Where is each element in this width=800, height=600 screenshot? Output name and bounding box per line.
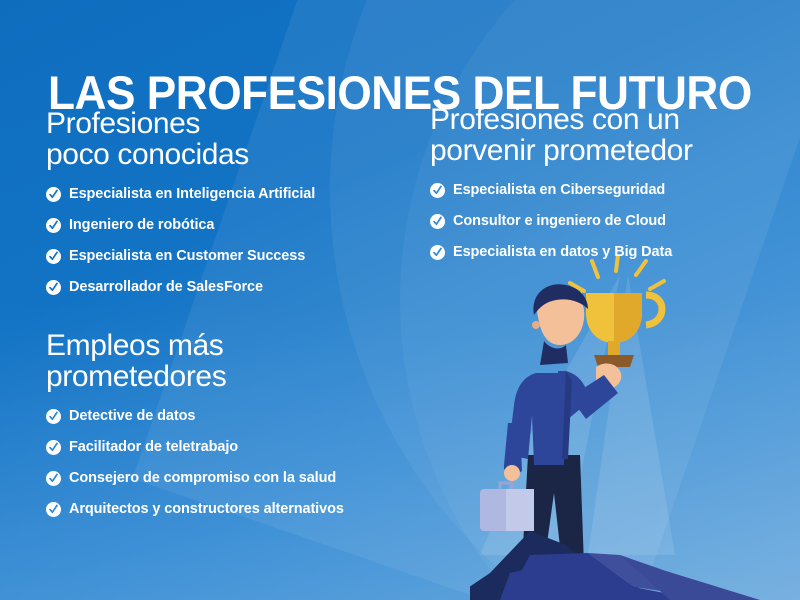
list-item[interactable]: Consultor e ingeniero de Cloud <box>430 213 790 230</box>
list-item[interactable]: Especialista en Customer Success <box>46 248 426 265</box>
list-item-label: Detective de datos <box>69 408 195 425</box>
check-circle-icon <box>46 471 61 486</box>
list-item-label: Consultor e ingeniero de Cloud <box>453 213 666 230</box>
list-item-label: Ingeniero de robótica <box>69 217 214 234</box>
briefcase-icon <box>480 483 534 531</box>
list-item-label: Especialista en Customer Success <box>69 248 305 265</box>
list-item[interactable]: Especialista en Ciberseguridad <box>430 182 790 199</box>
check-circle-icon <box>46 280 61 295</box>
section-porvenir-prometedor: Profesiones con un porvenir prometedor E… <box>430 104 790 261</box>
section-heading: Profesiones poco conocidas <box>46 108 426 170</box>
section-list: Especialista en Ciberseguridad Consultor… <box>430 182 790 261</box>
check-circle-icon <box>46 249 61 264</box>
list-item-label: Consejero de compromiso con la salud <box>69 470 336 487</box>
list-item[interactable]: Facilitador de teletrabajo <box>46 439 446 456</box>
check-circle-icon <box>46 218 61 233</box>
check-circle-icon <box>430 245 445 260</box>
check-circle-icon <box>46 440 61 455</box>
businessman-trophy-illustration <box>470 255 800 600</box>
list-item-label: Desarrollador de SalesForce <box>69 279 263 296</box>
check-circle-icon <box>46 409 61 424</box>
list-item[interactable]: Arquitectos y constructores alternativos <box>46 501 446 518</box>
check-circle-icon <box>46 187 61 202</box>
check-circle-icon <box>430 183 445 198</box>
section-poco-conocidas: Profesiones poco conocidas Especialista … <box>46 108 426 296</box>
list-item[interactable]: Ingeniero de robótica <box>46 217 426 234</box>
list-item[interactable]: Consejero de compromiso con la salud <box>46 470 446 487</box>
section-list: Especialista en Inteligencia Artificial … <box>46 186 426 296</box>
list-item[interactable]: Especialista en Inteligencia Artificial <box>46 186 426 203</box>
list-item[interactable]: Detective de datos <box>46 408 446 425</box>
check-circle-icon <box>430 214 445 229</box>
section-heading: Profesiones con un porvenir prometedor <box>430 104 790 166</box>
section-list: Detective de datos Facilitador de teletr… <box>46 408 446 518</box>
list-item-label: Facilitador de teletrabajo <box>69 439 238 456</box>
list-item[interactable]: Desarrollador de SalesForce <box>46 279 426 296</box>
section-empleos-prometedores: Empleos más prometedores Detective de da… <box>46 330 446 518</box>
list-item-label: Especialista en Inteligencia Artificial <box>69 186 315 203</box>
check-circle-icon <box>46 502 61 517</box>
list-item-label: Especialista en datos y Big Data <box>453 244 672 261</box>
infographic-poster: LAS PROFESIONES DEL FUTURO Profesiones p… <box>0 0 800 600</box>
list-item-label: Arquitectos y constructores alternativos <box>69 501 344 518</box>
list-item-label: Especialista en Ciberseguridad <box>453 182 665 199</box>
section-heading: Empleos más prometedores <box>46 330 446 392</box>
list-item[interactable]: Especialista en datos y Big Data <box>430 244 790 261</box>
